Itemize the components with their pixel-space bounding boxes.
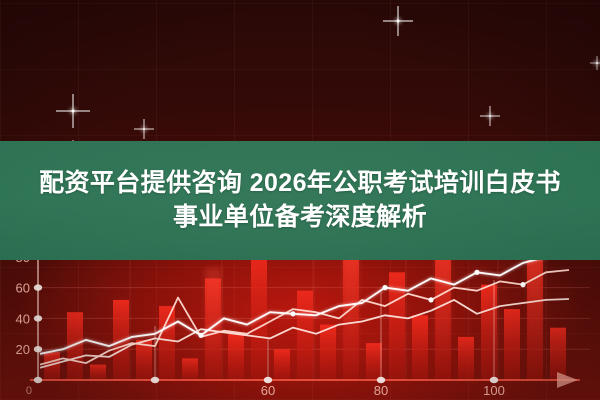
title-line-1: 配资平台提供咨询 2026年公职考试培训白皮书: [39, 170, 561, 197]
banner-title-block: 配资平台提供咨询 2026年公职考试培训白皮书 事业单位备考深度解析: [0, 141, 600, 260]
poster-image: 100 80 60 40 20 0 60 80 100: [0, 0, 600, 400]
title-line-2: 事业单位备考深度解析: [173, 204, 427, 231]
